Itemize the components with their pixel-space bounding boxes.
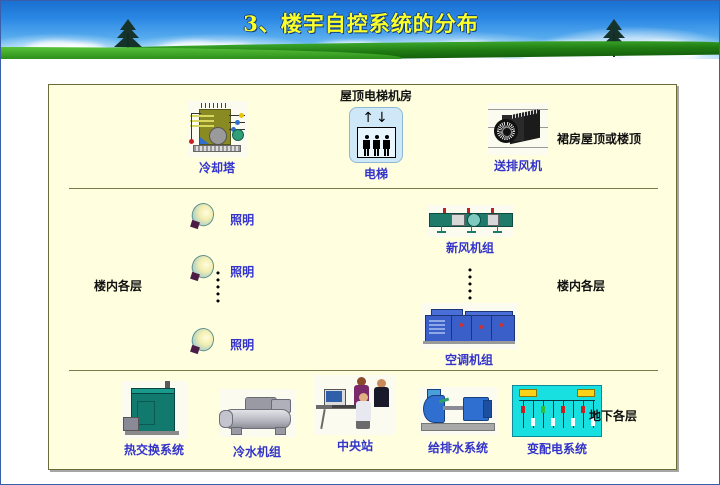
item-caption: 照明 (230, 263, 254, 280)
light-bulb-icon (189, 203, 215, 233)
row-divider-1 (69, 188, 658, 189)
item-caption: 电梯 (336, 165, 416, 182)
item-central-station[interactable]: 中央站 (307, 375, 403, 454)
central-station-icon (314, 375, 396, 435)
air-conditioning-unit-icon (421, 303, 517, 349)
heat-exchange-icon (121, 381, 187, 439)
elevator-arrows-icon: ↑↓ (350, 111, 402, 125)
person-figure-icon (383, 135, 390, 156)
light-bulb-icon (189, 255, 215, 285)
item-lighting-1[interactable]: 照明 (189, 203, 299, 233)
ellipsis-floors-left: • • • • • (213, 270, 223, 305)
light-bulb-icon (189, 328, 215, 358)
elevator-zone-label: 屋顶电梯机房 (336, 87, 416, 104)
item-caption: 变配电系统 (509, 440, 605, 457)
cooling-tower-icon (187, 101, 247, 157)
chiller-icon (219, 389, 295, 437)
zone-label-basement: 地下各层 (589, 407, 637, 424)
item-caption: 照明 (230, 211, 254, 228)
item-caption: 新风机组 (415, 239, 525, 256)
water-supply-drainage-icon (419, 387, 497, 435)
item-caption: 空调机组 (409, 351, 529, 368)
item-heat-exchange[interactable]: 热交换系统 (109, 381, 199, 458)
slide-page: 3、楼宇自控系统的分布 (0, 0, 720, 485)
item-lighting-2[interactable]: 照明 (189, 255, 299, 285)
fresh-air-unit-icon (427, 205, 513, 237)
item-elevator[interactable]: 屋顶电梯机房 ↑↓ 电梯 (336, 87, 416, 182)
item-caption: 中央站 (307, 437, 403, 454)
item-caption: 送排风机 (483, 157, 553, 174)
ellipsis-floors-right: • • • • • (465, 267, 475, 302)
item-caption: 照明 (230, 336, 254, 353)
item-chiller[interactable]: 冷水机组 (211, 389, 303, 460)
row-divider-2 (69, 370, 658, 371)
supply-exhaust-fan-icon (488, 103, 548, 155)
item-water-supply-drainage[interactable]: 给排水系统 (411, 387, 505, 456)
item-caption: 给排水系统 (411, 439, 505, 456)
item-caption: 冷水机组 (211, 443, 303, 460)
zone-label-floors-right: 楼内各层 (557, 277, 605, 294)
item-caption: 冷却塔 (182, 159, 252, 176)
item-lighting-3[interactable]: 照明 (189, 328, 299, 358)
person-figure-icon (356, 393, 371, 421)
person-figure-icon (374, 379, 389, 409)
item-supply-exhaust-fan[interactable]: 送排风机 (483, 103, 553, 174)
zone-label-roof: 裙房屋顶或楼顶 (557, 130, 641, 147)
elevator-icon: ↑↓ (349, 107, 403, 163)
header-banner: 3、楼宇自控系统的分布 (1, 1, 720, 59)
item-caption: 热交换系统 (109, 441, 199, 458)
item-air-conditioning-unit[interactable]: 空调机组 (409, 303, 529, 368)
item-cooling-tower[interactable]: 冷却塔 (182, 101, 252, 176)
person-figure-icon (373, 135, 380, 156)
diagram-panel: 冷却塔 屋顶电梯机房 ↑↓ 电梯 (48, 84, 677, 470)
page-title: 3、楼宇自控系统的分布 (1, 8, 720, 38)
person-figure-icon (363, 135, 370, 156)
item-fresh-air-unit[interactable]: 新风机组 (415, 205, 525, 256)
zone-label-floors-left: 楼内各层 (94, 277, 142, 294)
